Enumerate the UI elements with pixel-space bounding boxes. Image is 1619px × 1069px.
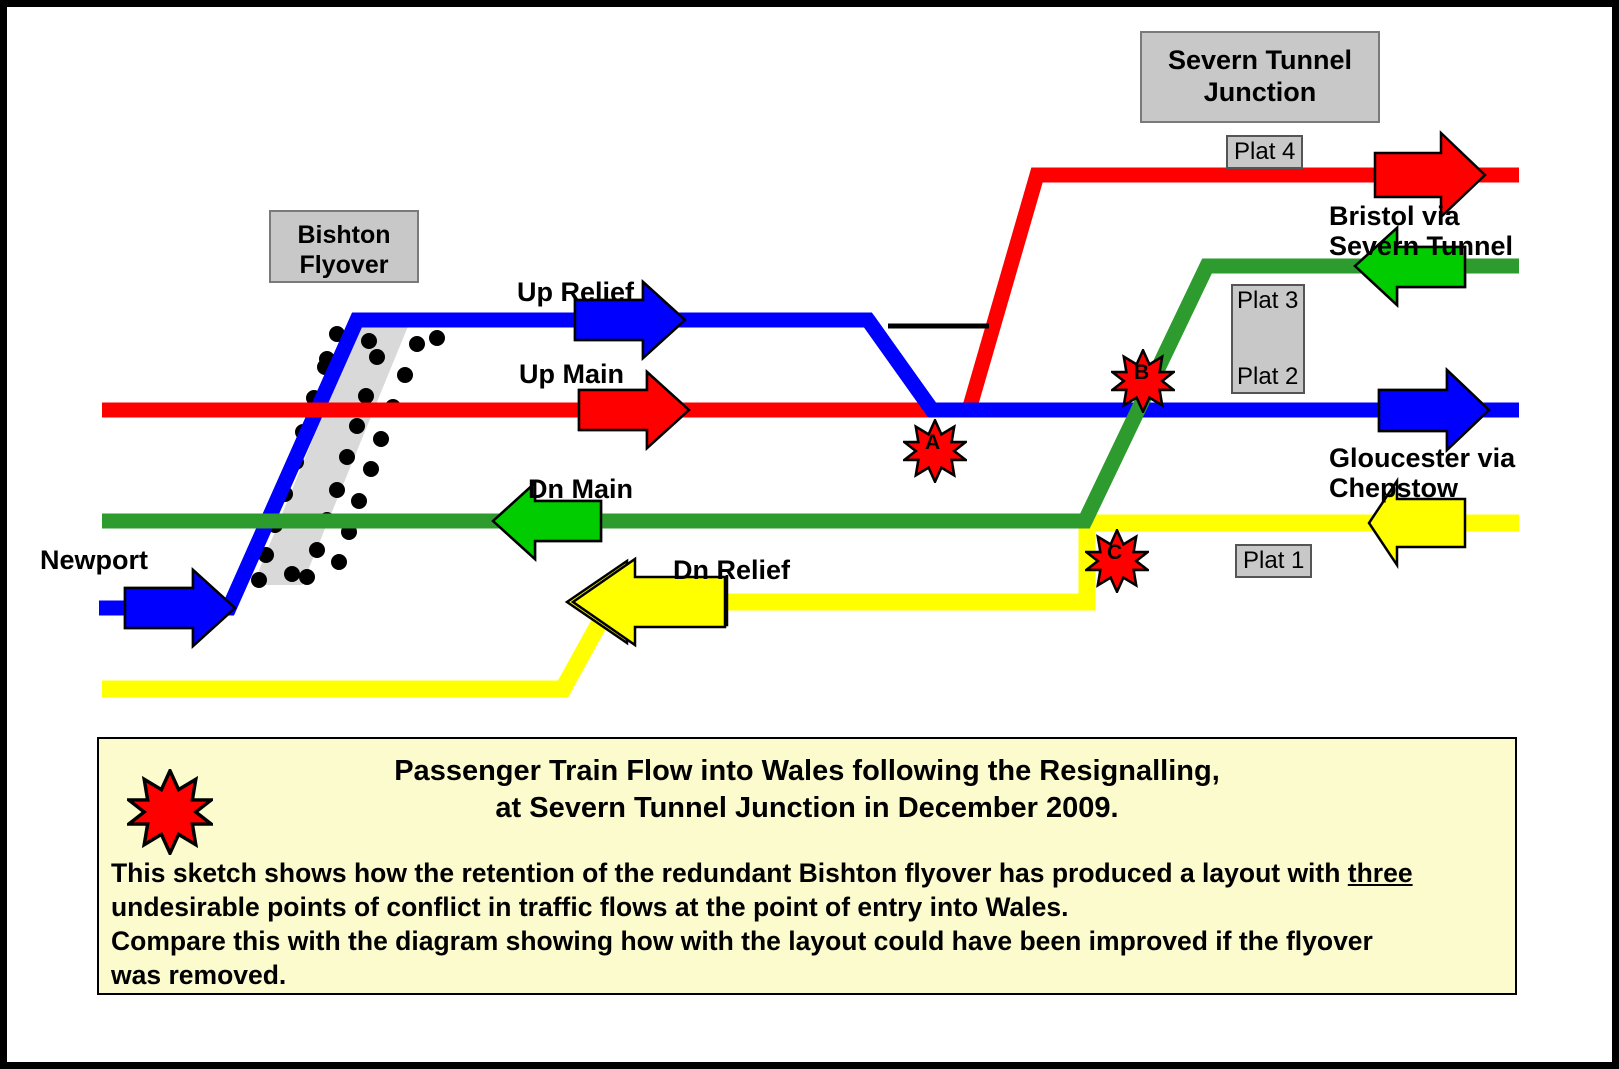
caption-title-line1: Passenger Train Flow into Wales followin… [394,755,1220,787]
platform-3-2-box: Plat 3 Plat 2 [1231,284,1305,394]
caption-body-line2: undesirable points of conflict in traffi… [111,892,1068,922]
caption-title: Passenger Train Flow into Wales followin… [99,753,1515,827]
caption-body: This sketch shows how the retention of t… [111,857,1507,993]
conflict-legend-icon [127,769,213,855]
diagram-page: A B C Severn Tunnel Junction Bishton Fly… [0,0,1619,1069]
platform-3-label: Plat 3 [1237,287,1298,315]
platform-4-label: Plat 4 [1226,135,1303,169]
caption-body-line4: was removed. [111,960,286,990]
severn-tunnel-junction-label: Severn Tunnel Junction [1140,31,1380,123]
route-label-dn-relief: Dn Relief [673,555,790,585]
caption-box: Passenger Train Flow into Wales followin… [97,737,1517,995]
destination-label-newport: Newport [40,545,148,575]
route-label-up-relief: Up Relief [517,277,634,307]
destination-label-bristol: Bristol via Severn Tunnel [1329,201,1513,261]
route-label-dn-main: Dn Main [528,474,633,504]
platform-1-label: Plat 1 [1235,544,1312,578]
caption-body-underlined: three [1348,858,1413,888]
conflict-label-c: C [1107,541,1122,565]
bishton-flyover-label: Bishton Flyover [269,210,419,283]
caption-body-line3: Compare this with the diagram showing ho… [111,926,1373,956]
conflict-label-b: B [1134,361,1149,385]
caption-body-line1: This sketch shows how the retention of t… [111,858,1348,888]
route-label-up-main: Up Main [519,359,624,389]
platform-2-label: Plat 2 [1237,363,1298,391]
conflict-label-a: A [925,431,940,455]
caption-title-line2: at Severn Tunnel Junction in December 20… [99,790,1515,827]
destination-label-gloucester: Gloucester via Chepstow [1329,443,1515,503]
